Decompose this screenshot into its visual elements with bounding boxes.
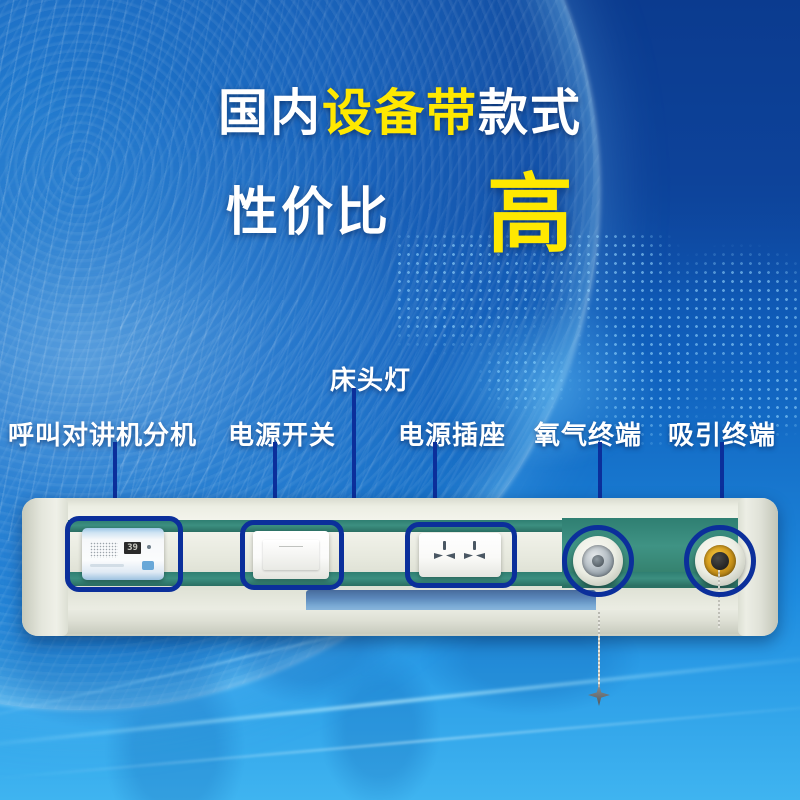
headline-emphasis-char: 高: [487, 175, 574, 257]
headline-line-2: 性价比 高: [0, 163, 800, 245]
highlight-box-power-switch: [240, 520, 344, 590]
callout-label-intercom: 呼叫对讲机分机: [8, 415, 197, 452]
highlight-circle-suction: [684, 525, 756, 597]
headline-value-text: 性价比: [226, 170, 391, 245]
headline-line-1: 国内设备带款式: [0, 88, 800, 138]
highlight-circle-oxygen: [562, 525, 634, 597]
panel-bottom-lip: [48, 610, 752, 634]
panel-end-cap-left: [22, 498, 68, 636]
highlight-box-power-socket: [405, 522, 517, 588]
callout-label-bed-lamp: 床头灯: [330, 360, 411, 397]
headline-highlight: 设备带: [322, 84, 478, 142]
callout-label-power-socket: 电源插座: [398, 415, 506, 452]
highlight-box-intercom: [65, 516, 183, 592]
callout-label-power-switch: 电源开关: [228, 415, 336, 452]
product-banner: 国内设备带款式 性价比 高 呼叫对讲机分机 电源开关 床头灯 电源插座 氧气终端…: [0, 0, 800, 800]
headline-part-1: 国内: [218, 84, 322, 142]
callout-label-oxygen: 氧气终端: [534, 415, 642, 452]
lamp-pull-cord[interactable]: [598, 610, 600, 692]
headline-part-2: 款式: [478, 84, 582, 142]
